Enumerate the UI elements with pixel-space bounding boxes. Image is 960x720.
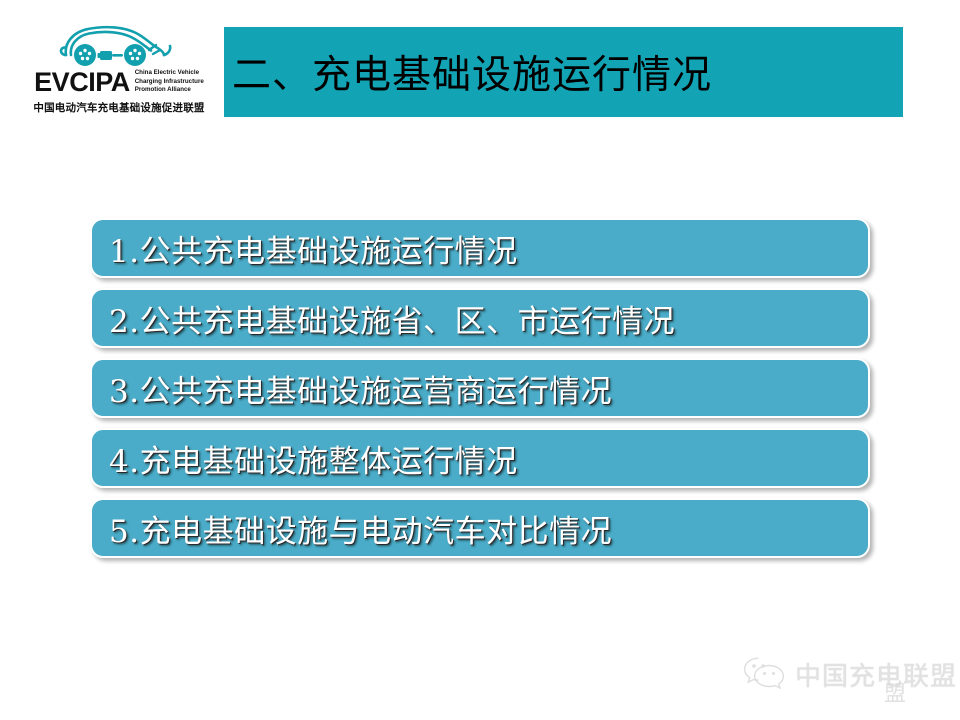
footer-watermark: 中国充电联盟 xyxy=(742,655,957,693)
logo-wordmark: EVCIPA China Electric Vehicle Charging I… xyxy=(34,69,204,96)
list-item[interactable]: 5.充电基础设施与电动汽车对比情况 xyxy=(90,498,870,558)
list-item-label: 5.充电基础设施与电动汽车对比情况 xyxy=(92,506,612,551)
logo-english-text: China Electric Vehicle Charging Infrastr… xyxy=(135,69,204,96)
wechat-icon xyxy=(742,655,786,693)
list-item[interactable]: 4.充电基础设施整体运行情况 xyxy=(90,428,870,488)
evcipa-logo: EVCIPA China Electric Vehicle Charging I… xyxy=(26,22,212,118)
footer-label: 中国充电联盟 xyxy=(795,656,957,693)
ev-car-charging-logo-icon xyxy=(54,22,184,68)
list-item[interactable]: 1.公共充电基础设施运行情况 xyxy=(90,218,870,278)
agenda-list: 1.公共充电基础设施运行情况 2.公共充电基础设施省、区、市运行情况 3.公共充… xyxy=(90,218,876,568)
list-item-label: 3.公共充电基础设施运营商运行情况 xyxy=(92,366,612,411)
page-title: 二、充电基础设施运行情况 xyxy=(232,30,892,114)
logo-english-line-3: Promotion Alliance xyxy=(135,86,191,93)
list-item-label: 1.公共充电基础设施运行情况 xyxy=(92,226,518,271)
logo-english-line-1: China Electric Vehicle xyxy=(135,69,199,76)
logo-chinese-name: 中国电动汽车充电基础设施促进联盟 xyxy=(33,100,204,115)
logo-evcipa-text: EVCIPA xyxy=(34,69,130,96)
logo-english-line-2: Charging Infrastructure xyxy=(135,78,204,85)
list-item-label: 4.充电基础设施整体运行情况 xyxy=(92,436,518,481)
list-item[interactable]: 3.公共充电基础设施运营商运行情况 xyxy=(90,358,870,418)
list-item-label: 2.公共充电基础设施省、区、市运行情况 xyxy=(92,296,675,341)
footer-overlap-mark: 盟 xyxy=(884,676,906,708)
list-item[interactable]: 2.公共充电基础设施省、区、市运行情况 xyxy=(90,288,870,348)
slide-root: EVCIPA China Electric Vehicle Charging I… xyxy=(0,0,960,720)
